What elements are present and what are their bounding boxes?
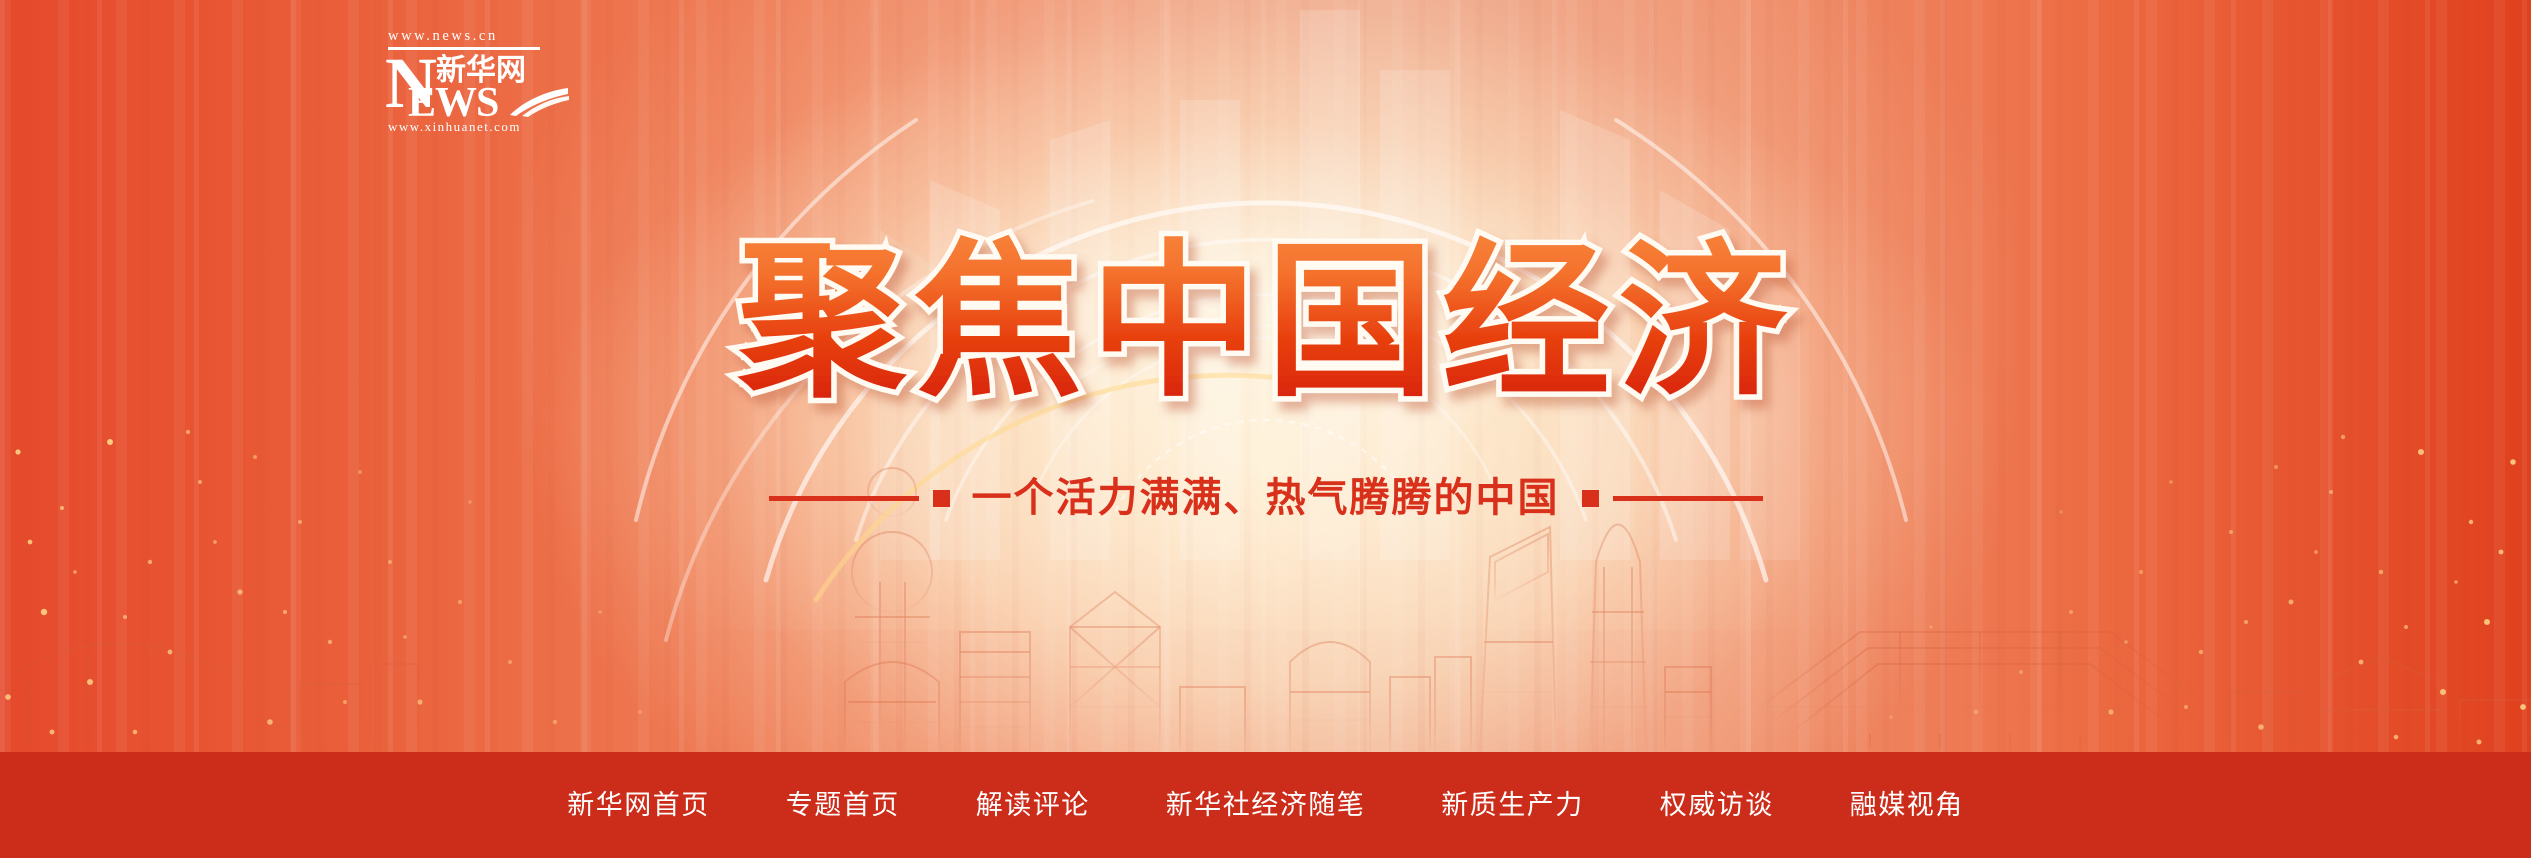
page-title: 聚焦中国经济: [0, 228, 2531, 433]
nav-item-economic-essays[interactable]: 新华社经济随笔: [1128, 792, 1404, 819]
page-title-art: 聚焦中国经济: [676, 228, 1856, 428]
primary-navigation: 新华网首页 专题首页 解读评论 新华社经济随笔 新质生产力 权威访谈 融媒视角: [0, 752, 2531, 858]
sparkle-particles-left: [0, 412, 760, 752]
nav-item-topic-home[interactable]: 专题首页: [748, 792, 938, 819]
page-title-text: 聚焦中国经济: [737, 228, 1794, 420]
nav-item-authoritative-interviews[interactable]: 权威访谈: [1622, 792, 1812, 819]
sparkle-particles-right: [1771, 412, 2531, 752]
subtitle-dot-left: [933, 490, 950, 507]
page-subtitle: 一个活力满满、热气腾腾的中国: [950, 478, 1582, 518]
logo-letters-ews: EWS: [408, 83, 498, 123]
nav-item-xinhua-home[interactable]: 新华网首页: [529, 792, 748, 819]
page-subtitle-row: 一个活力满满、热气腾腾的中国: [0, 478, 2531, 518]
subtitle-rule-right: [1613, 496, 1763, 501]
nav-item-analysis-comment[interactable]: 解读评论: [938, 792, 1128, 819]
subtitle-rule-left: [769, 496, 919, 501]
nav-item-new-productivity[interactable]: 新质生产力: [1403, 792, 1622, 819]
banner-root: www.news.cn N 新华网 EWS www.xinhuanet.com: [0, 0, 2531, 858]
xinhua-logo[interactable]: www.news.cn N 新华网 EWS www.xinhuanet.com: [386, 28, 566, 148]
logo-wordmark: N 新华网 EWS: [386, 53, 566, 115]
subtitle-dot-right: [1582, 490, 1599, 507]
nav-item-media-perspective[interactable]: 融媒视角: [1812, 792, 2002, 819]
logo-swoosh-icon: [508, 87, 570, 117]
